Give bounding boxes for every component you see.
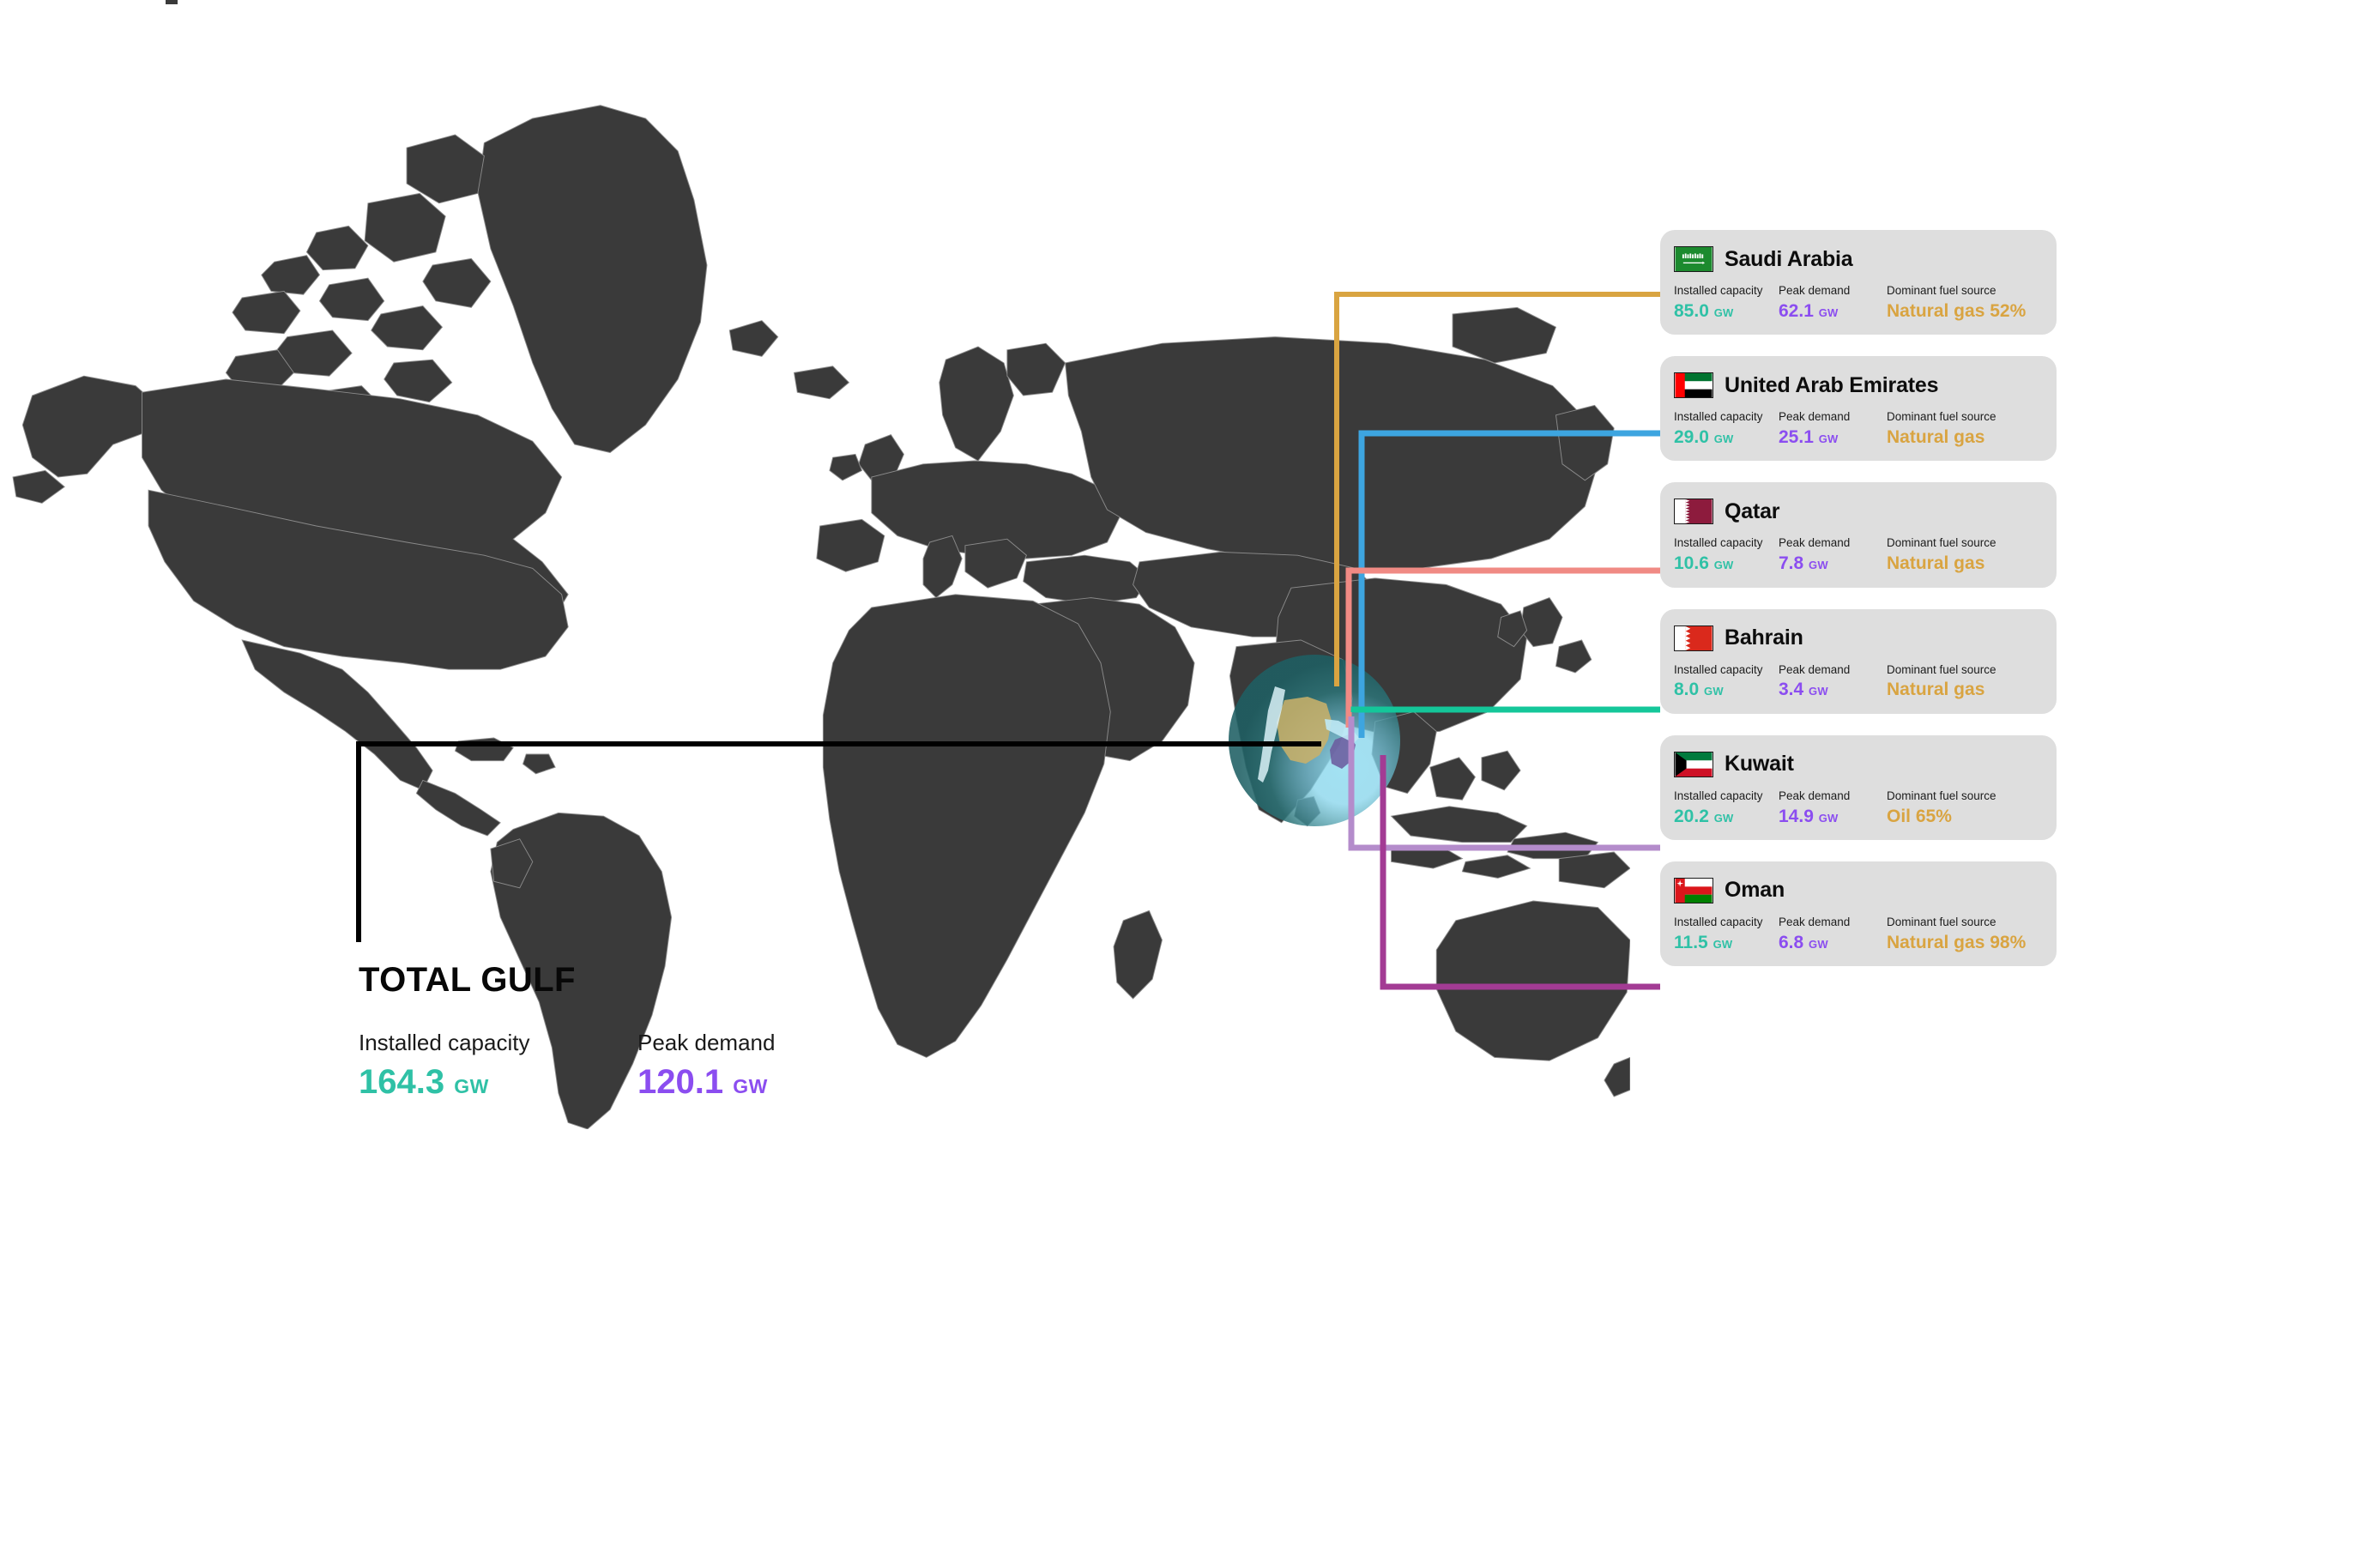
metric-unit: GW [1704, 685, 1724, 698]
card-header: Saudi Arabia [1674, 242, 2043, 276]
total-metric-unit: GW [454, 1075, 489, 1097]
metric-label: Peak demand [1779, 789, 1887, 804]
metric-unit: GW [1713, 938, 1733, 951]
total-metric-unit: GW [733, 1075, 768, 1097]
metric-unit: GW [1714, 306, 1734, 319]
metric-peak-demand: Peak demand 14.9 GW [1779, 789, 1887, 828]
country-card-qatar[interactable]: Qatar Installed capacity 10.6 GW Peak de… [1660, 482, 2057, 587]
card-header: Bahrain [1674, 621, 2043, 656]
metric-label: Peak demand [1779, 284, 1887, 299]
country-card-united-arab-emirates[interactable]: United Arab Emirates Installed capacity … [1660, 356, 2057, 461]
metric-dominant-fuel: Dominant fuel source Oil 65% [1887, 789, 1996, 828]
metric-label: Installed capacity [1674, 536, 1779, 551]
country-card-list: Saudi Arabia Installed capacity 85.0 GW … [1660, 230, 2057, 988]
country-card-bahrain[interactable]: Bahrain Installed capacity 8.0 GW Peak d… [1660, 609, 2057, 714]
card-header: Qatar [1674, 494, 2043, 529]
card-metrics: Installed capacity 10.6 GW Peak demand 7… [1674, 536, 2043, 575]
total-installed-capacity: Installed capacity 164.3 GW [359, 1030, 637, 1102]
total-gulf-summary: TOTAL GULF Installed capacity 164.3 GW P… [359, 961, 916, 1102]
country-name: Qatar [1725, 499, 1779, 524]
metric-installed-capacity: Installed capacity 85.0 GW [1674, 284, 1779, 323]
flag-qatar-icon [1674, 499, 1713, 524]
metric-peak-demand: Peak demand 6.8 GW [1779, 916, 1887, 954]
world-map [0, 0, 1630, 1129]
metric-unit: GW [1819, 812, 1839, 825]
metric-value: 25.1 GW [1779, 426, 1887, 449]
metric-unit: GW [1714, 559, 1734, 571]
metric-value: 29.0 GW [1674, 426, 1779, 449]
total-metric-value: 120.1 GW [637, 1063, 916, 1102]
flag-bahrain-icon [1674, 625, 1713, 651]
metric-value: Natural gas 52% [1887, 299, 2026, 323]
metric-value: Natural gas 98% [1887, 931, 2026, 954]
metric-unit: GW [1819, 432, 1839, 445]
metric-label: Installed capacity [1674, 284, 1779, 299]
metric-value: Natural gas [1887, 678, 1996, 701]
country-card-kuwait[interactable]: Kuwait Installed capacity 20.2 GW Peak d… [1660, 735, 2057, 840]
metric-dominant-fuel: Dominant fuel source Natural gas [1887, 663, 1996, 702]
total-metric-value: 164.3 GW [359, 1063, 637, 1102]
metric-label: Installed capacity [1674, 916, 1779, 930]
metric-value: 20.2 GW [1674, 805, 1779, 828]
metric-unit: GW [1809, 559, 1828, 571]
metric-value: 11.5 GW [1674, 931, 1779, 954]
metric-label: Peak demand [1779, 410, 1887, 425]
metric-value: 85.0 GW [1674, 299, 1779, 323]
metric-installed-capacity: Installed capacity 29.0 GW [1674, 410, 1779, 449]
metric-value: 7.8 GW [1779, 552, 1887, 575]
country-card-saudi-arabia[interactable]: Saudi Arabia Installed capacity 85.0 GW … [1660, 230, 2057, 335]
metric-peak-demand: Peak demand 7.8 GW [1779, 536, 1887, 575]
total-metric-label: Peak demand [637, 1030, 916, 1056]
card-metrics: Installed capacity 8.0 GW Peak demand 3.… [1674, 663, 2043, 702]
total-peak-demand: Peak demand 120.1 GW [637, 1030, 916, 1102]
metric-unit: GW [1819, 306, 1839, 319]
card-metrics: Installed capacity 29.0 GW Peak demand 2… [1674, 410, 2043, 449]
metric-value: 3.4 GW [1779, 678, 1887, 701]
metric-label: Dominant fuel source [1887, 284, 2026, 299]
metric-installed-capacity: Installed capacity 20.2 GW [1674, 789, 1779, 828]
flag-oman-icon [1674, 878, 1713, 903]
metric-label: Dominant fuel source [1887, 789, 1996, 804]
metric-label: Installed capacity [1674, 663, 1779, 678]
metric-value: Natural gas [1887, 426, 1996, 449]
metric-peak-demand: Peak demand 3.4 GW [1779, 663, 1887, 702]
metric-label: Peak demand [1779, 536, 1887, 551]
metric-value: 62.1 GW [1779, 299, 1887, 323]
metric-label: Peak demand [1779, 663, 1887, 678]
country-name: Kuwait [1725, 752, 1794, 777]
metric-installed-capacity: Installed capacity 8.0 GW [1674, 663, 1779, 702]
metric-installed-capacity: Installed capacity 11.5 GW [1674, 916, 1779, 954]
metric-value: 8.0 GW [1674, 678, 1779, 701]
metric-value: 10.6 GW [1674, 552, 1779, 575]
country-name: Bahrain [1725, 625, 1803, 650]
metric-peak-demand: Peak demand 25.1 GW [1779, 410, 1887, 449]
metric-label: Installed capacity [1674, 789, 1779, 804]
metric-dominant-fuel: Dominant fuel source Natural gas 98% [1887, 916, 2026, 954]
card-metrics: Installed capacity 85.0 GW Peak demand 6… [1674, 284, 2043, 323]
metric-label: Peak demand [1779, 916, 1887, 930]
card-header: Kuwait [1674, 747, 2043, 782]
infographic-canvas: Saudi Arabia Installed capacity 85.0 GW … [0, 0, 2380, 1541]
metric-dominant-fuel: Dominant fuel source Natural gas [1887, 410, 1996, 449]
metric-label: Installed capacity [1674, 410, 1779, 425]
metric-label: Dominant fuel source [1887, 916, 2026, 930]
card-metrics: Installed capacity 20.2 GW Peak demand 1… [1674, 789, 2043, 828]
flag-saudi-arabia-icon [1674, 246, 1713, 272]
flag-kuwait-icon [1674, 752, 1713, 777]
country-name: Oman [1725, 878, 1785, 903]
total-gulf-title: TOTAL GULF [359, 961, 916, 1000]
metric-label: Dominant fuel source [1887, 663, 1996, 678]
metric-unit: GW [1809, 938, 1828, 951]
country-name: Saudi Arabia [1725, 247, 1853, 272]
flag-united-arab-emirates-icon [1674, 372, 1713, 398]
metric-unit: GW [1714, 812, 1734, 825]
card-metrics: Installed capacity 11.5 GW Peak demand 6… [1674, 916, 2043, 954]
card-header: Oman [1674, 873, 2043, 908]
metric-dominant-fuel: Dominant fuel source Natural gas 52% [1887, 284, 2026, 323]
card-header: United Arab Emirates [1674, 368, 2043, 402]
country-name: United Arab Emirates [1725, 373, 1938, 398]
metric-unit: GW [1809, 685, 1828, 698]
metric-installed-capacity: Installed capacity 10.6 GW [1674, 536, 1779, 575]
metric-unit: GW [1714, 432, 1734, 445]
metric-value: 14.9 GW [1779, 805, 1887, 828]
total-metric-label: Installed capacity [359, 1030, 637, 1056]
metric-value: 6.8 GW [1779, 931, 1887, 954]
metric-peak-demand: Peak demand 62.1 GW [1779, 284, 1887, 323]
metric-value: Natural gas [1887, 552, 1996, 575]
metric-label: Dominant fuel source [1887, 410, 1996, 425]
metric-label: Dominant fuel source [1887, 536, 1996, 551]
country-card-oman[interactable]: Oman Installed capacity 11.5 GW Peak dem… [1660, 861, 2057, 966]
total-gulf-metrics: Installed capacity 164.3 GW Peak demand … [359, 1030, 916, 1102]
metric-value: Oil 65% [1887, 805, 1996, 828]
metric-dominant-fuel: Dominant fuel source Natural gas [1887, 536, 1996, 575]
